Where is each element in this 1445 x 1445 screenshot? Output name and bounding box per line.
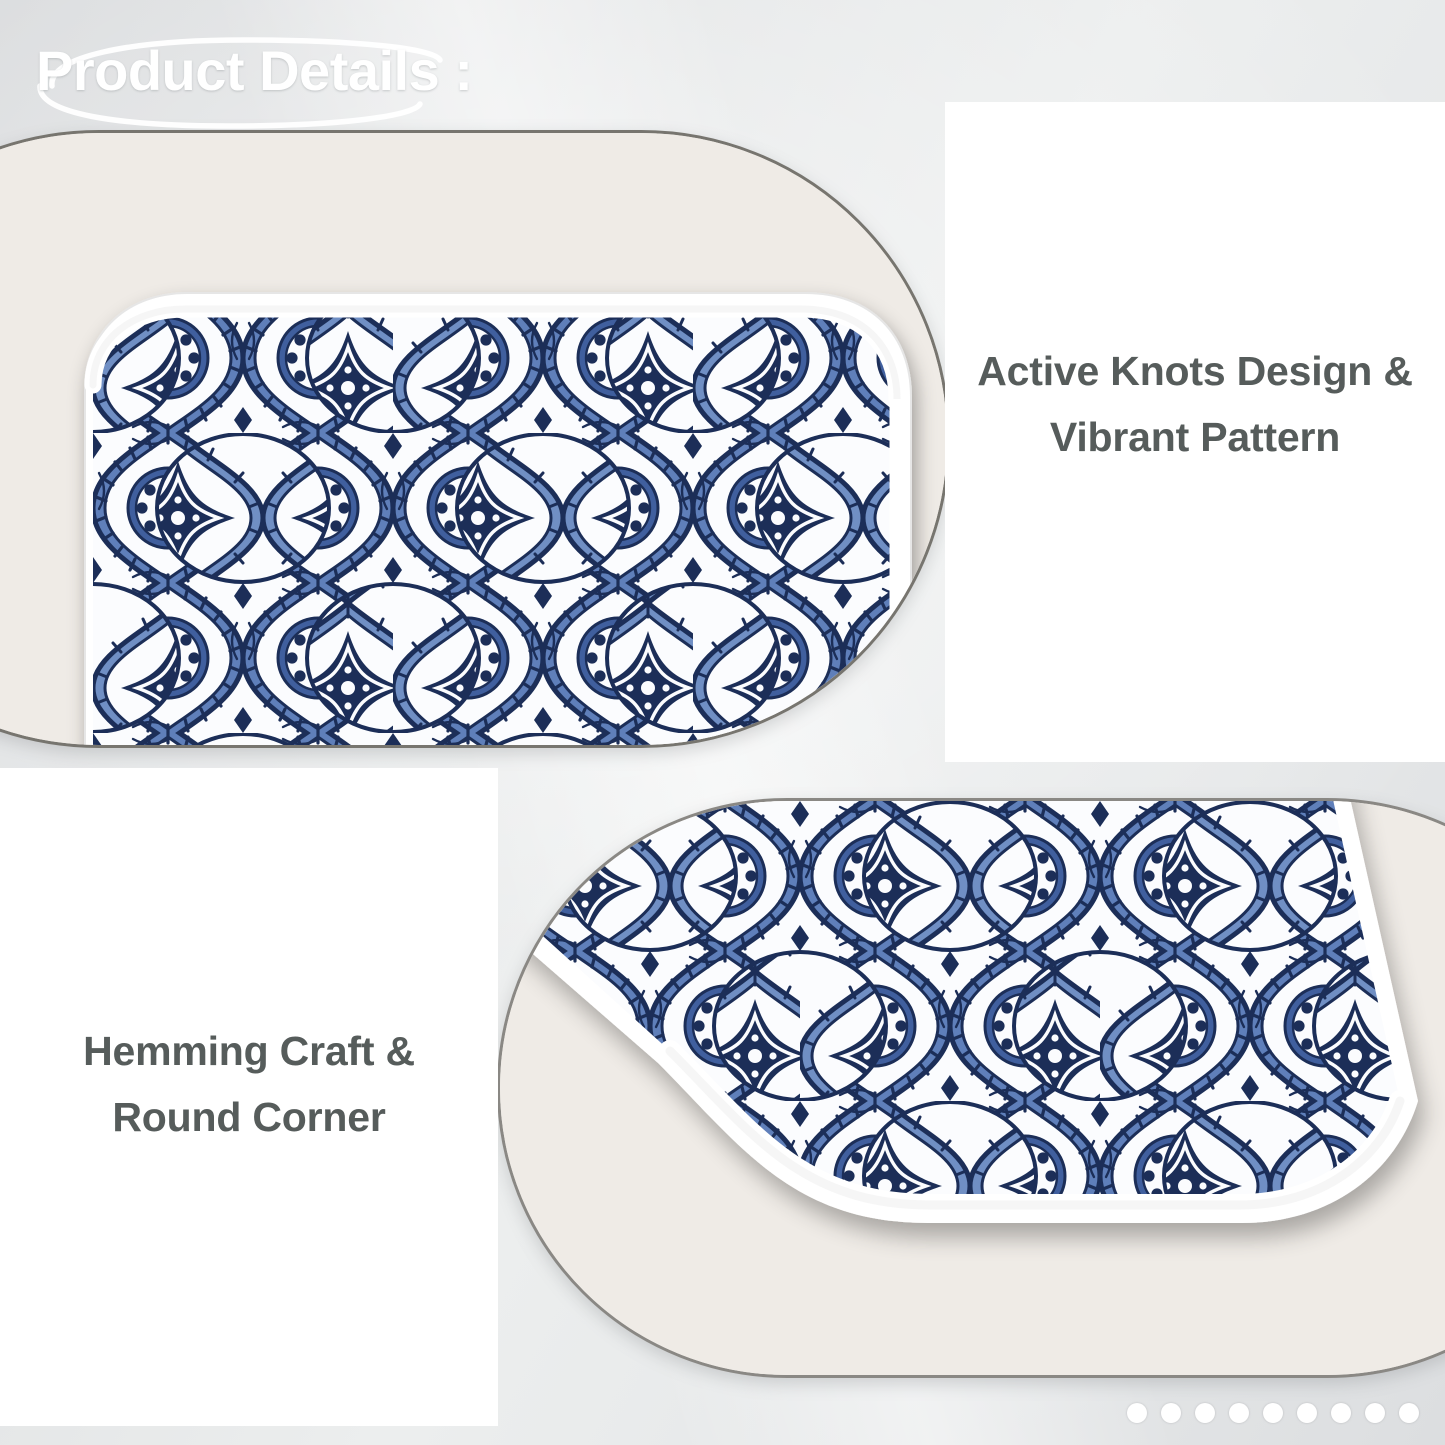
cushion-knots-artwork xyxy=(0,133,950,748)
photo-frame-rounded-pill-2 xyxy=(497,798,1445,1378)
pagination-dot-icon[interactable] xyxy=(1263,1403,1283,1423)
pagination-dot-icon[interactable] xyxy=(1399,1403,1419,1423)
caption-active-knots: Active Knots Design & Vibrant Pattern xyxy=(945,338,1445,471)
caption-hemming-craft: Hemming Craft & Round Corner xyxy=(0,1018,498,1151)
poster-stage: Active Knots Design & Vibrant Pattern He… xyxy=(0,0,1445,1445)
photo-frame-rounded-pill xyxy=(0,130,950,748)
pagination-dot-icon[interactable] xyxy=(1229,1403,1249,1423)
caption-line-2: Round Corner xyxy=(0,1084,498,1150)
pagination-dot-icon[interactable] xyxy=(1297,1403,1317,1423)
caption-card-hemming-craft: Hemming Craft & Round Corner xyxy=(0,768,498,1426)
pagination-dot-icon[interactable] xyxy=(1331,1403,1351,1423)
pagination-dot-icon[interactable] xyxy=(1365,1403,1385,1423)
pagination-dot-icon[interactable] xyxy=(1127,1403,1147,1423)
caption-line-1: Active Knots Design & xyxy=(945,338,1445,404)
photo-panel-round-corner xyxy=(497,798,1445,1378)
caption-line-2: Vibrant Pattern xyxy=(945,404,1445,470)
caption-card-active-knots: Active Knots Design & Vibrant Pattern xyxy=(945,102,1445,762)
pagination-dots[interactable] xyxy=(1127,1403,1419,1423)
photo-panel-active-knots xyxy=(0,130,950,748)
caption-line-1: Hemming Craft & xyxy=(0,1018,498,1084)
pagination-dot-icon[interactable] xyxy=(1195,1403,1215,1423)
pagination-dot-icon[interactable] xyxy=(1161,1403,1181,1423)
page-title-block: Product Details : xyxy=(22,28,492,134)
page-title: Product Details : xyxy=(36,38,472,103)
cushion-corner-artwork xyxy=(500,801,1445,1378)
